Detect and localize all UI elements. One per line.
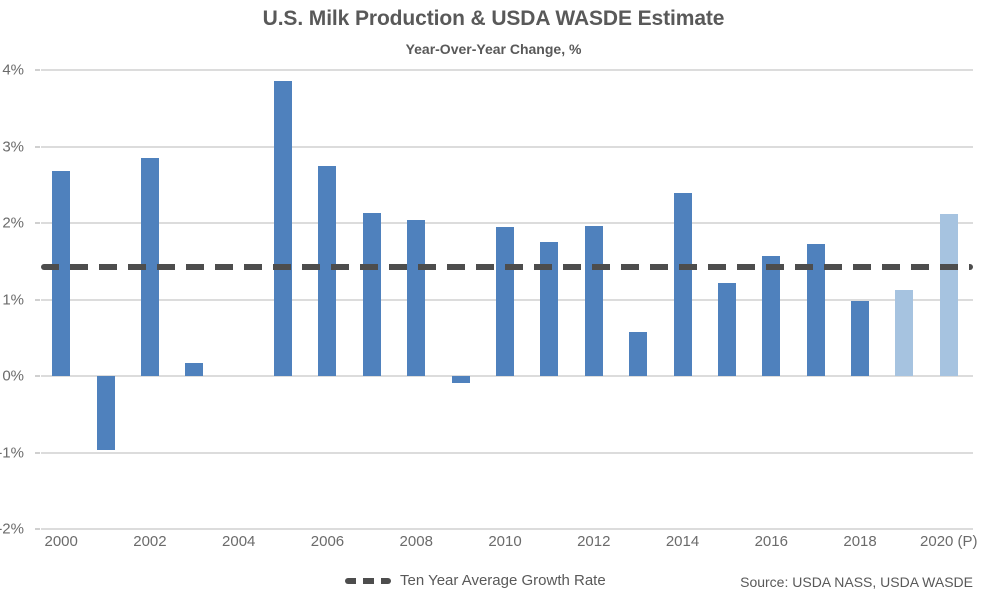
- chart-bar: [452, 376, 470, 383]
- y-axis-tick: [35, 69, 40, 71]
- x-axis-label: 2000: [45, 533, 78, 550]
- chart-bar: [540, 242, 558, 376]
- chart-bar: [274, 81, 292, 376]
- y-axis-label: 2%: [0, 215, 24, 232]
- chart-bar: [895, 290, 913, 376]
- gridline: [41, 146, 973, 148]
- dashed-line-swatch-icon: [345, 578, 391, 584]
- gridline: [41, 222, 973, 224]
- gridline: [41, 69, 973, 71]
- x-axis-label: 2018: [843, 533, 876, 550]
- gridline: [41, 452, 973, 454]
- chart-bar: [585, 226, 603, 376]
- x-axis-label: 2014: [666, 533, 699, 550]
- chart-bar: [851, 301, 869, 376]
- source-note: Source: USDA NASS, USDA WASDE: [740, 574, 973, 590]
- chart-x-axis: 2000200220042006200820102012201420162018…: [41, 533, 973, 559]
- y-axis-tick: [35, 299, 40, 301]
- x-axis-label: 2006: [311, 533, 344, 550]
- chart-subtitle: Year-Over-Year Change, %: [0, 41, 987, 57]
- chart-bar: [318, 166, 336, 376]
- gridline: [41, 528, 973, 530]
- y-axis-tick: [35, 222, 40, 224]
- chart-bar: [363, 213, 381, 376]
- y-axis-label: 4%: [0, 62, 24, 79]
- chart-bar: [407, 220, 425, 376]
- chart-bar: [97, 376, 115, 450]
- chart-bar: [674, 193, 692, 376]
- chart-bar: [940, 214, 958, 376]
- y-axis-tick: [35, 452, 40, 454]
- x-axis-label: 2008: [400, 533, 433, 550]
- y-axis-label: 1%: [0, 291, 24, 308]
- y-axis-tick: [35, 375, 40, 377]
- x-axis-label: 2020 (P): [920, 533, 978, 550]
- chart-plot-area: 4%3%2%1%0%-1%-2%: [41, 70, 973, 529]
- y-axis-label: -1%: [0, 444, 24, 461]
- y-axis-label: -2%: [0, 521, 24, 538]
- y-axis-tick: [35, 146, 40, 148]
- x-axis-label: 2004: [222, 533, 255, 550]
- x-axis-label: 2012: [577, 533, 610, 550]
- chart-bar: [52, 171, 70, 376]
- chart-bar: [762, 256, 780, 376]
- chart-bar: [718, 283, 736, 376]
- x-axis-label: 2002: [133, 533, 166, 550]
- y-axis-tick: [35, 528, 40, 530]
- x-axis-label: 2016: [755, 533, 788, 550]
- legend-item-label: Ten Year Average Growth Rate: [400, 572, 606, 589]
- y-axis-label: 0%: [0, 368, 24, 385]
- y-axis-label: 3%: [0, 138, 24, 155]
- chart-bar: [496, 227, 514, 376]
- chart-bar: [185, 363, 203, 376]
- chart-bar: [629, 332, 647, 376]
- chart-legend: Ten Year Average Growth Rate: [345, 572, 606, 589]
- x-axis-label: 2010: [488, 533, 521, 550]
- average-reference-line: [41, 264, 973, 270]
- page-title: U.S. Milk Production & USDA WASDE Estima…: [0, 7, 987, 31]
